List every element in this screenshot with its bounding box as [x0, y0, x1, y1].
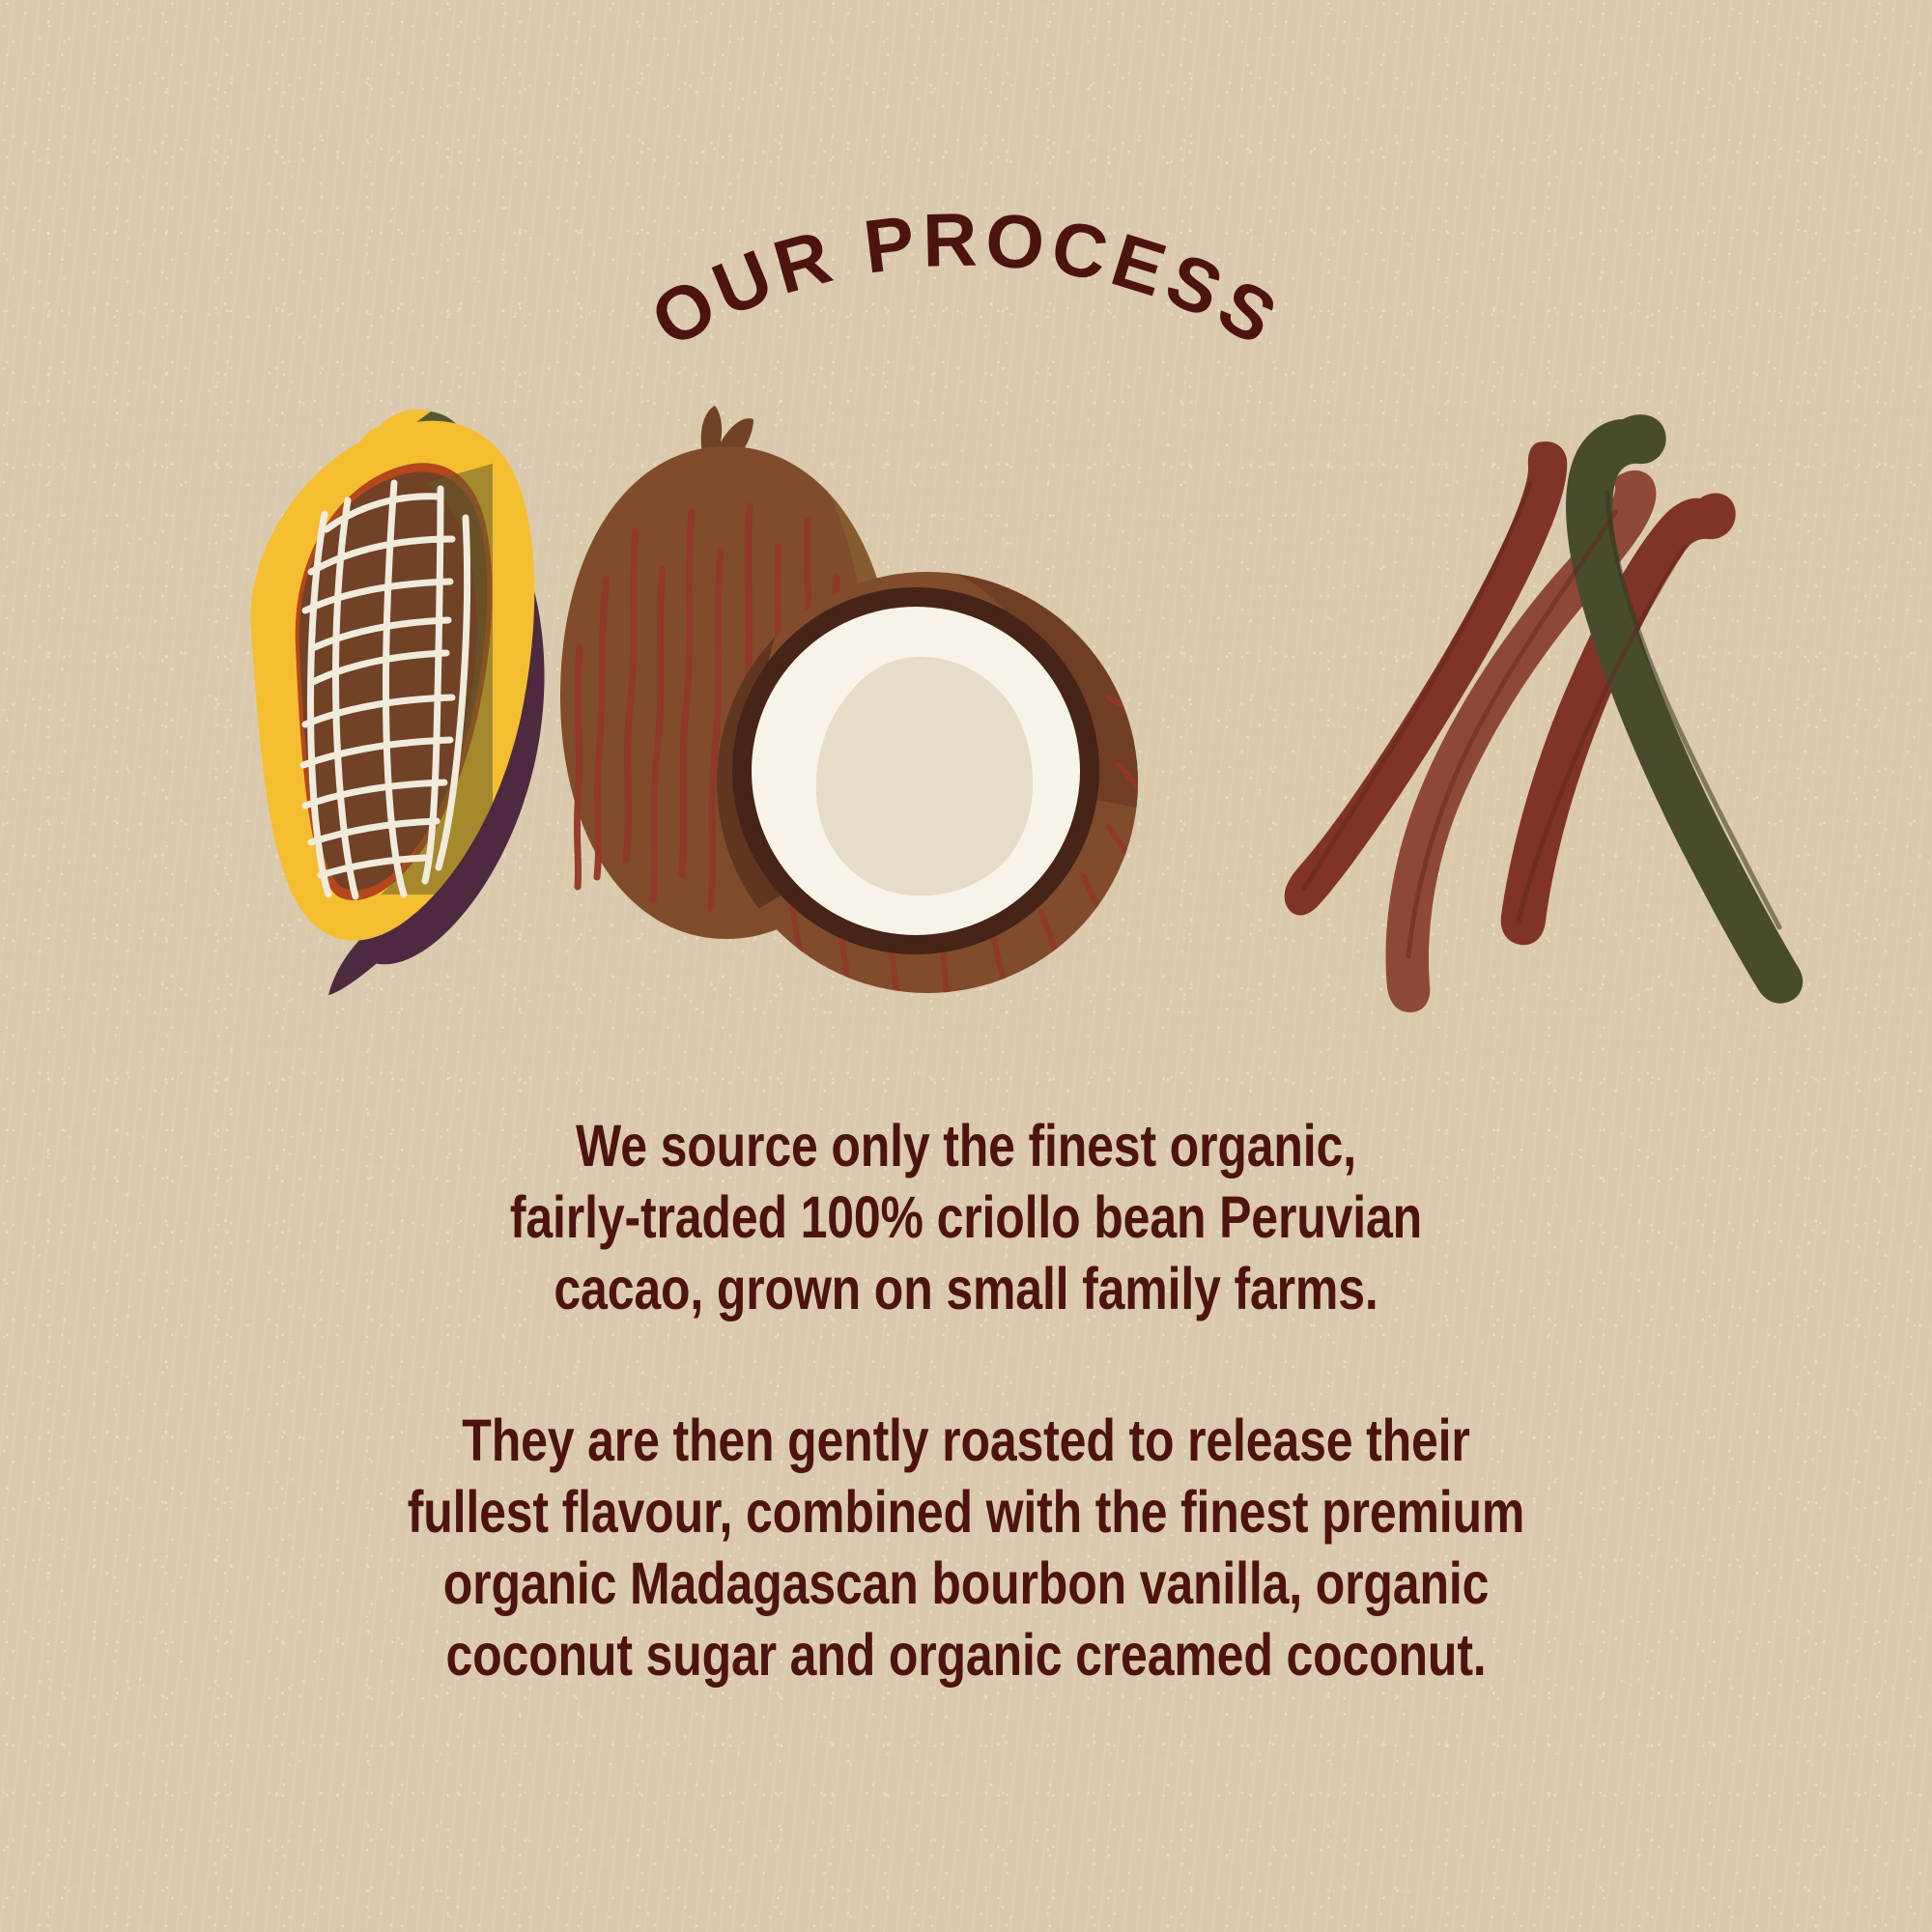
page-title: OUR PROCESS	[0, 106, 1932, 357]
paragraph-roasting: They are then gently roasted to release …	[253, 1406, 1679, 1690]
arched-title-svg: OUR PROCESS	[0, 106, 1932, 357]
paragraph-sourcing: We source only the finest organic, fairl…	[253, 1111, 1679, 1324]
title-textpath: OUR PROCESS	[637, 196, 1295, 363]
paragraph-sourcing-line-3: cacao, grown on small family farms.	[253, 1254, 1679, 1325]
paragraph-sourcing-line-2: fairly-traded 100% criollo bean Peruvian	[253, 1182, 1679, 1254]
ingredients-illustration	[0, 406, 1932, 1063]
title-text: OUR PROCESS	[637, 196, 1295, 363]
paragraph-roasting-line-4: coconut sugar and organic creamed coconu…	[253, 1620, 1679, 1691]
ingredients-svg	[0, 406, 1932, 1063]
paragraph-sourcing-line-1: We source only the finest organic,	[253, 1111, 1679, 1182]
illustration-grain-veil	[0, 406, 1932, 1063]
paragraph-roasting-line-1: They are then gently roasted to release …	[253, 1406, 1679, 1477]
paragraph-roasting-line-2: fullest flavour, combined with the fines…	[253, 1477, 1679, 1548]
page-root: OUR PROCESS	[0, 0, 1932, 1932]
body-copy: We source only the finest organic, fairl…	[97, 1111, 1835, 1691]
paragraph-roasting-line-3: organic Madagascan bourbon vanilla, orga…	[253, 1548, 1679, 1620]
